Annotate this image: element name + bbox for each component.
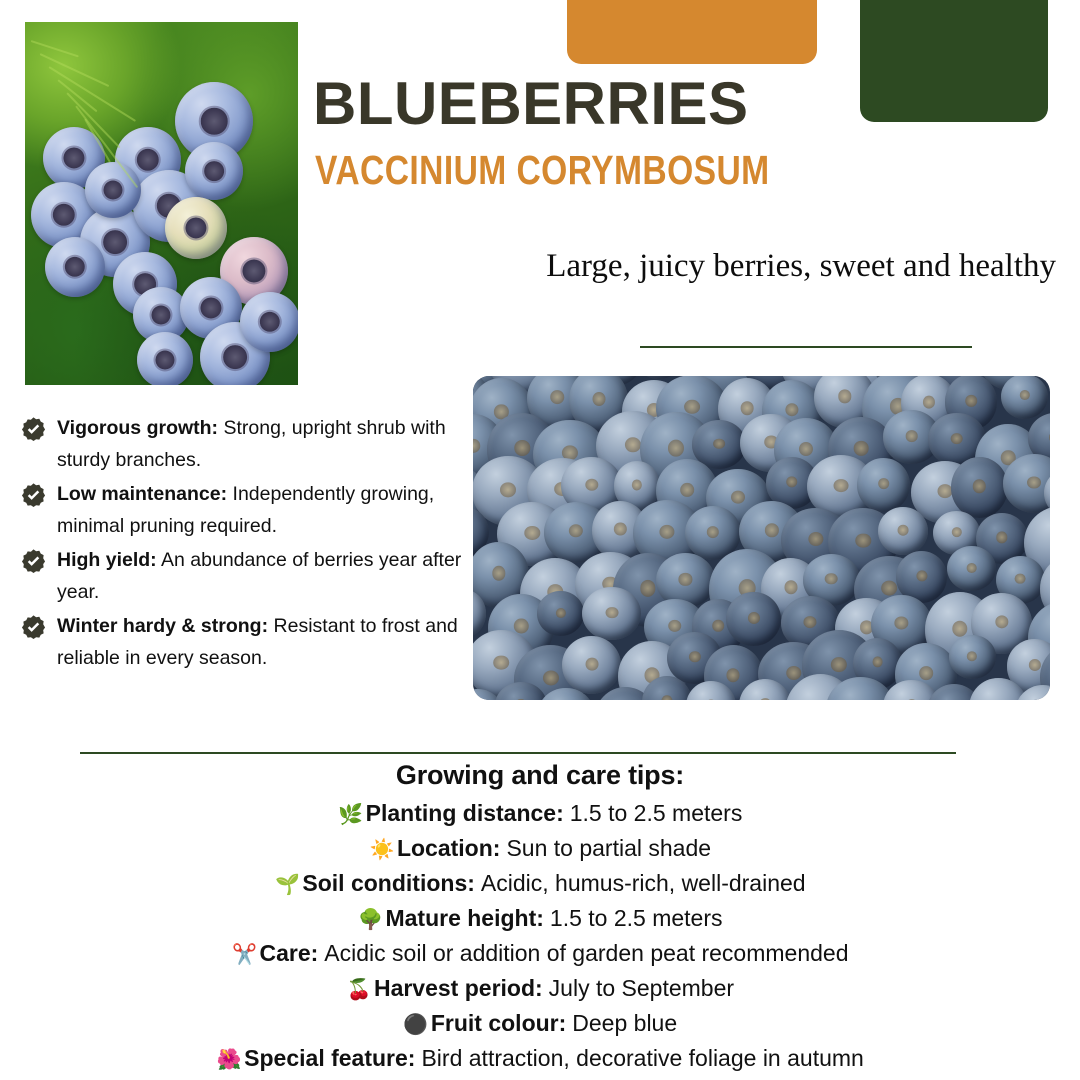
care-tip-item: 🌱Soil conditions:Acidic, humus-rich, wel…	[0, 867, 1080, 902]
care-section-divider	[80, 752, 956, 754]
care-tip-value: Deep blue	[572, 1007, 677, 1040]
feature-item-label: Vigorous growth:	[57, 417, 218, 439]
feature-item-text: Low maintenance: Independently growing, …	[57, 478, 476, 542]
tagline-divider	[640, 346, 972, 348]
care-tip-value: Acidic, humus-rich, well-drained	[481, 867, 806, 900]
care-tip-label: Mature height:	[385, 902, 543, 935]
check-badge-icon	[20, 614, 47, 641]
care-tip-item: 🍒Harvest period:July to September	[0, 972, 1080, 1007]
care-tip-label: Location:	[397, 832, 501, 865]
tagline: Large, juicy berries, sweet and healthy	[546, 247, 1056, 287]
gallery-image-blueberry-heap	[473, 376, 1050, 700]
feature-item: Winter hardy & strong: Resistant to fros…	[20, 610, 476, 674]
care-tip-value: 1.5 to 2.5 meters	[550, 902, 723, 935]
care-tip-value: 1.5 to 2.5 meters	[570, 797, 743, 830]
circle-icon: ⚫	[403, 1009, 429, 1042]
blossom-icon: 🌺	[216, 1044, 242, 1077]
cherries-icon: 🍒	[346, 974, 372, 1007]
care-tip-label: Harvest period:	[374, 972, 543, 1005]
seedling-icon: 🌱	[274, 869, 300, 902]
feature-item-text: Winter hardy & strong: Resistant to fros…	[57, 610, 476, 674]
feature-item-label: High yield:	[57, 549, 157, 571]
care-tip-item: 🌳Mature height:1.5 to 2.5 meters	[0, 902, 1080, 937]
check-badge-icon	[20, 548, 47, 575]
feature-item-label: Winter hardy & strong:	[57, 615, 268, 637]
care-tip-value: Acidic soil or addition of garden peat r…	[324, 937, 848, 970]
page-title: BLUEBERRIES	[313, 74, 749, 134]
feature-item: High yield: An abundance of berries year…	[20, 544, 476, 608]
care-tip-item: 🌺Special feature:Bird attraction, decora…	[0, 1042, 1080, 1077]
feature-item: Low maintenance: Independently growing, …	[20, 478, 476, 542]
care-tip-item: ☀️Location:Sun to partial shade	[0, 832, 1080, 867]
care-tip-label: Soil conditions:	[302, 867, 475, 900]
feature-item-label: Low maintenance:	[57, 483, 227, 505]
care-tip-item: 🌿Planting distance:1.5 to 2.5 meters	[0, 797, 1080, 832]
care-tip-label: Planting distance:	[366, 797, 564, 830]
sun-icon: ☀️	[369, 834, 395, 867]
feature-item: Vigorous growth: Strong, upright shrub w…	[20, 412, 476, 476]
scissors-icon: ✂️	[231, 939, 257, 972]
care-tips-list: 🌿Planting distance:1.5 to 2.5 meters☀️Lo…	[0, 797, 1080, 1077]
care-tip-label: Care:	[259, 937, 318, 970]
care-tip-value: July to September	[549, 972, 734, 1005]
tree-icon: 🌳	[357, 904, 383, 937]
feature-item-text: High yield: An abundance of berries year…	[57, 544, 476, 608]
page-subtitle-latin-name: VACCINIUM CORYMBOSUM	[315, 150, 770, 191]
care-tip-item: ✂️Care:Acidic soil or addition of garden…	[0, 937, 1080, 972]
herb-icon: 🌿	[338, 799, 364, 832]
hero-image-blueberry-bush	[25, 22, 298, 385]
header-accent-block-green	[860, 0, 1048, 122]
care-section-heading: Growing and care tips:	[0, 760, 1080, 791]
check-badge-icon	[20, 482, 47, 509]
care-tip-label: Special feature:	[244, 1042, 415, 1075]
check-badge-icon	[20, 416, 47, 443]
feature-item-text: Vigorous growth: Strong, upright shrub w…	[57, 412, 476, 476]
care-tip-value: Sun to partial shade	[506, 832, 711, 865]
care-tip-value: Bird attraction, decorative foliage in a…	[421, 1042, 863, 1075]
care-tip-item: ⚫Fruit colour:Deep blue	[0, 1007, 1080, 1042]
care-tip-label: Fruit colour:	[431, 1007, 566, 1040]
header-accent-block-orange	[567, 0, 817, 64]
features-list: Vigorous growth: Strong, upright shrub w…	[20, 412, 476, 676]
